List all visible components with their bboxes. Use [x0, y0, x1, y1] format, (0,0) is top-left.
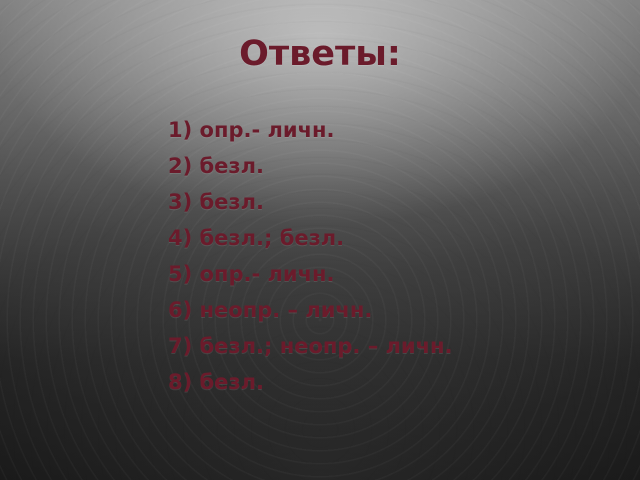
list-item: 4) безл.; безл. [168, 220, 588, 256]
list-item: 3) безл. [168, 184, 588, 220]
page-title: Ответы: [0, 34, 640, 74]
slide-content: Ответы: 1) опр.- личн. 2) безл. 3) безл.… [0, 0, 640, 480]
slide-canvas: Ответы: 1) опр.- личн. 2) безл. 3) безл.… [0, 0, 640, 480]
list-item: 2) безл. [168, 148, 588, 184]
list-item: 6) неопр. – личн. [168, 292, 588, 328]
answers-list: 1) опр.- личн. 2) безл. 3) безл. 4) безл… [168, 112, 588, 400]
list-item: 1) опр.- личн. [168, 112, 588, 148]
list-item: 5) опр.- личн. [168, 256, 588, 292]
list-item: 8) безл. [168, 364, 588, 400]
list-item: 7) безл.; неопр. – личн. [168, 328, 588, 364]
